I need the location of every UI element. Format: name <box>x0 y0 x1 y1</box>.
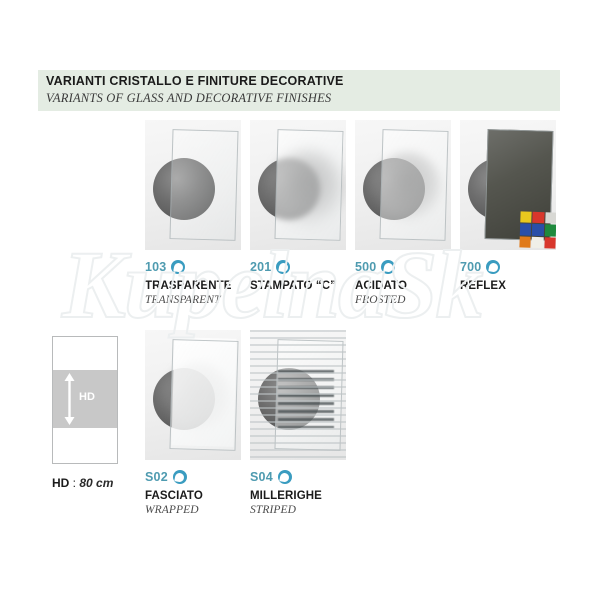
glass-pane-fasciato <box>169 339 238 451</box>
finish-code-row: 103 <box>145 259 241 275</box>
chart-swatch <box>545 212 556 224</box>
finish-card-500[interactable]: 500 ACIDATO FROSTED <box>355 120 451 306</box>
finish-code: 700 <box>460 260 481 274</box>
hd-double-arrow-icon <box>64 373 75 425</box>
finish-subtitle: WRAPPED <box>145 504 241 516</box>
chart-swatch <box>520 211 532 223</box>
chart-swatch <box>544 225 556 237</box>
finish-code: S04 <box>250 470 273 484</box>
finish-thumbnail-transparent <box>145 120 241 250</box>
finish-name: TRASPARENTE <box>145 280 241 292</box>
glass-pane-stampato <box>274 129 343 241</box>
finish-badge-icon <box>171 260 185 274</box>
hd-caption-key: HD <box>52 476 69 490</box>
section-header-band: VARIANTI CRISTALLO E FINITURE DECORATIVE… <box>38 70 560 111</box>
finish-subtitle: STRIPED <box>250 504 346 516</box>
hd-panel-outline: HD <box>52 336 118 464</box>
finish-card-S02[interactable]: S02 FASCIATO WRAPPED <box>145 330 241 516</box>
chart-swatch <box>532 224 544 236</box>
finish-code: 500 <box>355 260 376 274</box>
color-reference-chart <box>519 211 556 248</box>
chart-swatch <box>544 237 556 249</box>
striped-overlay-pattern <box>250 330 346 460</box>
chart-swatch <box>520 224 532 236</box>
finish-card-700[interactable]: 700 REFLEX <box>460 120 556 294</box>
finish-badge-icon <box>278 470 292 484</box>
finish-badge-icon <box>381 260 395 274</box>
finish-badge-icon <box>173 470 187 484</box>
glass-pane-acidato <box>379 129 448 241</box>
finish-name: FASCIATO <box>145 490 241 502</box>
finish-code: 201 <box>250 260 271 274</box>
finish-badge-icon <box>276 260 290 274</box>
finish-code-row: 201 <box>250 259 346 275</box>
hd-caption: HD : 80 cm <box>52 476 138 490</box>
hd-dimension-diagram: HD HD : 80 cm <box>52 336 138 490</box>
chart-swatch <box>533 212 545 224</box>
finish-name: MILLERIGHE <box>250 490 346 502</box>
finish-subtitle: FROSTED <box>355 294 451 306</box>
chart-swatch <box>519 236 531 248</box>
finish-code-row: S04 <box>250 469 346 485</box>
finish-code: S02 <box>145 470 168 484</box>
finish-name: STAMPATO “C” <box>250 280 346 292</box>
finish-thumbnail-acidato <box>355 120 451 250</box>
page-title: VARIANTI CRISTALLO E FINITURE DECORATIVE <box>46 74 344 88</box>
finish-badge-icon <box>486 260 500 274</box>
page-subtitle: VARIANTS OF GLASS AND DECORATIVE FINISHE… <box>46 91 331 106</box>
finish-subtitle: TRANSPARENT <box>145 294 241 306</box>
finish-name: ACIDATO <box>355 280 451 292</box>
hd-inner-label: HD <box>79 391 95 403</box>
finish-card-S04[interactable]: S04 MILLERIGHE STRIPED <box>250 330 346 516</box>
glass-pane-transparent <box>169 129 238 241</box>
finish-code-row: S02 <box>145 469 241 485</box>
finish-thumbnail-reflex <box>460 120 556 250</box>
hd-caption-value: 80 cm <box>79 476 113 490</box>
finish-thumbnail-fasciato <box>145 330 241 460</box>
finish-code-row: 500 <box>355 259 451 275</box>
finish-thumbnail-millerighe <box>250 330 346 460</box>
finish-name: REFLEX <box>460 280 556 292</box>
finish-thumbnail-stampato-c <box>250 120 346 250</box>
hd-caption-sep: : <box>69 476 79 490</box>
finish-code-row: 700 <box>460 259 556 275</box>
finish-card-201[interactable]: 201 STAMPATO “C” <box>250 120 346 294</box>
finish-card-103[interactable]: 103 TRASPARENTE TRANSPARENT <box>145 120 241 306</box>
chart-swatch <box>532 236 544 248</box>
finish-code: 103 <box>145 260 166 274</box>
